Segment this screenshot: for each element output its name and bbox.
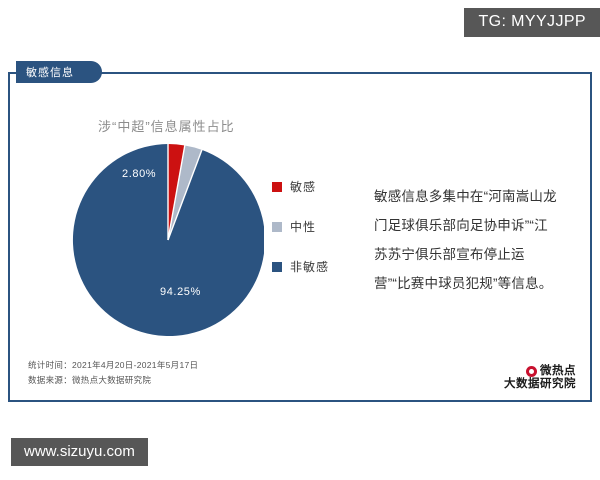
legend-label-non-sensitive: 非敏感 <box>290 258 329 275</box>
legend-item-non-sensitive[interactable]: 非敏感 <box>272 258 329 275</box>
footer-stat-time: 统计时间：2021年4月20日-2021年5月17日 <box>28 358 198 373</box>
pie-chart-svg <box>72 144 264 336</box>
summary-line: 门足球俱乐部向足协申诉”“江 <box>374 211 600 240</box>
legend-label-sensitive: 敏感 <box>290 178 316 195</box>
logo-name: 微热点 <box>540 365 576 378</box>
legend-swatch-icon-sensitive <box>272 182 282 192</box>
legend-item-sensitive[interactable]: 敏感 <box>272 178 329 195</box>
logo-top-row: 微热点 <box>526 365 576 378</box>
legend-swatch-icon-neutral <box>272 222 282 232</box>
footer-meta: 统计时间：2021年4月20日-2021年5月17日 数据来源：微热点大数据研究… <box>28 358 198 388</box>
footer-data-source: 数据来源：微热点大数据研究院 <box>28 373 198 388</box>
logo-subtitle: 大数据研究院 <box>504 378 576 391</box>
legend-swatch-icon-non-sensitive <box>272 262 282 272</box>
card-tab-label: 敏感信息 <box>26 64 74 80</box>
legend-label-neutral: 中性 <box>290 218 316 235</box>
summary-line: 敏感信息多集中在“河南嵩山龙 <box>374 182 600 211</box>
site-watermark-badge: www.sizuyu.com <box>11 438 148 466</box>
tg-watermark-badge: TG: MYYJJPP <box>464 8 600 37</box>
chart-title: 涉“中超”信息属性占比 <box>98 116 235 135</box>
summary-line: 营”“比赛中球员犯规”等信息。 <box>374 269 600 298</box>
summary-line: 苏苏宁俱乐部宣布停止运 <box>374 240 600 269</box>
brand-logo: 微热点 大数据研究院 <box>504 365 576 391</box>
pie-chart-block: 涉“中超”信息属性占比 2.80% 94.25% 敏感 <box>20 116 350 331</box>
pie-chart: 2.80% 94.25% <box>72 144 264 336</box>
legend-item-neutral[interactable]: 中性 <box>272 218 329 235</box>
summary-paragraph: 敏感信息多集中在“河南嵩山龙 门足球俱乐部向足协申诉”“江 苏苏宁俱乐部宣布停止… <box>374 182 600 298</box>
sensitive-info-card: 敏感信息 涉“中超”信息属性占比 2.80% 94.25% <box>8 72 592 402</box>
card-tab-sensitive-info: 敏感信息 <box>16 61 102 83</box>
chart-legend: 敏感 中性 非敏感 <box>272 178 329 275</box>
brand-mark-icon <box>526 366 537 377</box>
